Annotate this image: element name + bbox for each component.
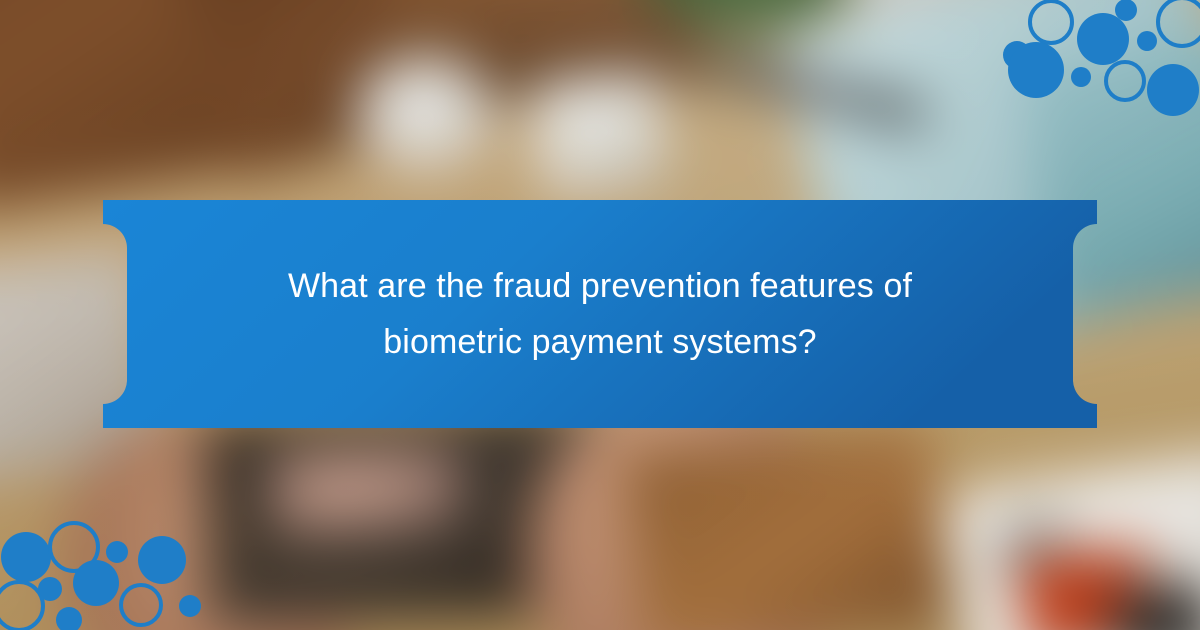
question-text: What are the fraud prevention features o…: [103, 200, 1097, 428]
decorative-circle: [38, 577, 62, 601]
decorative-circle: [56, 607, 82, 630]
question-banner: What are the fraud prevention features o…: [103, 200, 1097, 428]
share-card-canvas: What are the fraud prevention features o…: [0, 0, 1200, 630]
decorative-circle: [138, 536, 186, 584]
question-line-1: What are the fraud prevention features o…: [288, 258, 912, 314]
decorative-circle: [73, 560, 119, 606]
decorative-circle: [1, 532, 51, 582]
decorative-circle: [119, 583, 163, 627]
decorative-circle: [179, 595, 201, 617]
question-line-2: biometric payment systems?: [383, 314, 816, 370]
decorative-circle: [106, 541, 128, 563]
